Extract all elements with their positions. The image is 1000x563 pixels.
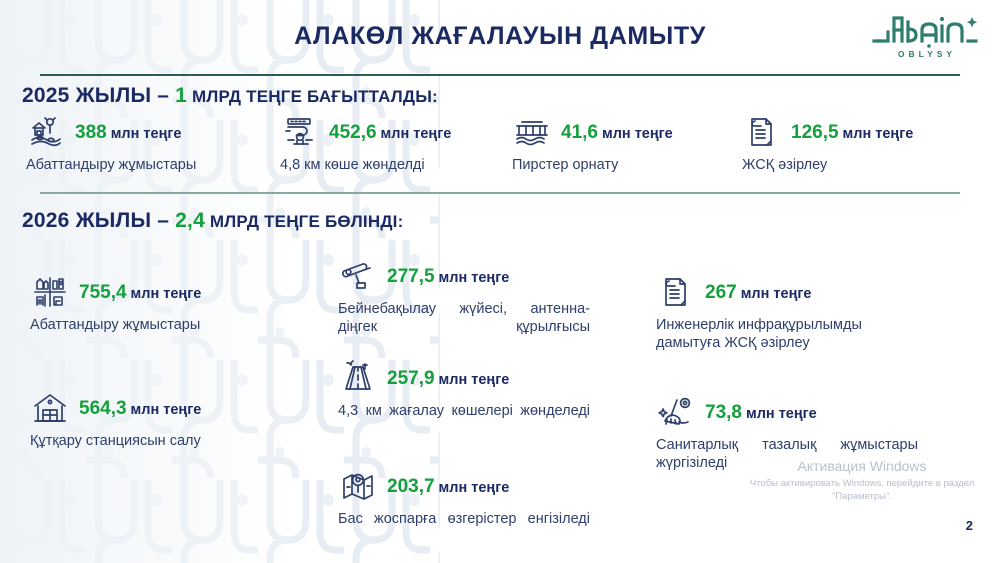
stat-unit: млн теңге <box>111 127 182 142</box>
stat-value-row: 203,7 млн теңге <box>387 477 509 496</box>
stat-amount: 452,6 <box>329 123 377 142</box>
stat-caption: Инженерлік инфрақұрылымды дамытуға ЖСҚ ә… <box>656 316 918 353</box>
stat-unit: млн теңге <box>439 271 510 286</box>
divider-top <box>40 74 960 76</box>
stat-value-row: 755,4 млн теңге <box>79 283 201 302</box>
section-heading-2025: 2025 ЖЫЛЫ – 1 МЛРД ТЕҢГЕ БАҒЫТТАЛДЫ: <box>22 84 438 108</box>
stat-amount: 755,4 <box>79 283 127 302</box>
stat-amount: 257,9 <box>387 369 435 388</box>
page-number: 2 <box>966 518 973 533</box>
stat-unit: млн теңге <box>381 127 452 142</box>
stat-item: 126,5 млн теңге ЖСҚ әзірлеу <box>742 112 967 174</box>
stat-item: 257,9 млн теңге 4,3 км жағалау көшелері … <box>338 358 590 439</box>
city-blocks-icon <box>30 272 70 312</box>
stat-caption: Абаттандыру жұмыстары <box>26 156 266 174</box>
stat-unit: млн теңге <box>131 403 202 418</box>
stat-caption: 4,3 км жағалау көшелері жөнделеді <box>338 402 590 439</box>
stat-item: 277,5 млн теңге Бейнебақылау жүйесі, ант… <box>338 256 590 355</box>
stat-value-row: 41,6 млн теңге <box>561 123 673 142</box>
cleaning-broom-icon <box>656 392 696 432</box>
page-title: АЛАКӨЛ ЖАҒАЛАУЫН ДАМЫТУ <box>0 22 1000 51</box>
stat-amount: 73,8 <box>705 403 742 422</box>
stat-headline: 277,5 млн теңге <box>338 256 590 296</box>
stat-unit: млн теңге <box>741 287 812 302</box>
stat-value-row: 564,3 млн теңге <box>79 399 201 418</box>
abai-oblysy-logo: OBLYSY <box>872 8 982 59</box>
stat-headline: 452,6 млн теңге <box>280 112 505 152</box>
stat-caption: 4,8 км көше жөнделді <box>280 156 505 174</box>
stat-headline: 267 млн теңге <box>656 272 918 312</box>
stat-value-row: 126,5 млн теңге <box>791 123 913 142</box>
slide-header: АЛАКӨЛ ЖАҒАЛАУЫН ДАМЫТУ <box>0 0 1000 72</box>
stat-unit: млн теңге <box>439 481 510 496</box>
stat-unit: млн теңге <box>131 287 202 302</box>
heading-accent-2025: 1 <box>175 84 187 107</box>
road-perspective-icon <box>338 358 378 398</box>
stat-value-row: 73,8 млн теңге <box>705 403 817 422</box>
stat-value-row: 277,5 млн теңге <box>387 267 509 286</box>
stat-value-row: 452,6 млн теңге <box>329 123 451 142</box>
stat-item: 388 млн теңге Абаттандыру жұмыстары <box>26 112 266 174</box>
stat-item: 73,8 млн теңге Санитарлық тазалық жұмыст… <box>656 392 918 491</box>
slide-root: АЛАКӨЛ ЖАҒАЛАУЫН ДАМЫТУ <box>0 0 1000 563</box>
document-icon <box>742 112 782 152</box>
document-icon <box>656 272 696 312</box>
abai-wordmark-icon <box>872 8 982 48</box>
stat-item: 203,7 млн теңге Бас жоспарға өзгерістер … <box>338 466 590 547</box>
stat-value-row: 267 млн теңге <box>705 283 811 302</box>
stat-item: 564,3 млн теңге Құтқару станциясын салу <box>30 388 290 450</box>
stat-unit: млн теңге <box>602 127 673 142</box>
stat-headline: 73,8 млн теңге <box>656 392 918 432</box>
stat-item: 452,6 млн теңге 4,8 км көше жөнделді <box>280 112 505 174</box>
stat-headline: 41,6 млн теңге <box>512 112 727 152</box>
stat-caption: Бас жоспарға өзгерістер енгізіледі <box>338 510 590 547</box>
heading-tail-2026: МЛРД ТЕҢГЕ БӨЛІНДІ: <box>205 212 403 231</box>
stat-headline: 564,3 млн теңге <box>30 388 290 428</box>
stat-item: 41,6 млн теңге Пирстер орнату <box>512 112 727 174</box>
stat-headline: 203,7 млн теңге <box>338 466 590 506</box>
road-works-icon <box>280 112 320 152</box>
stat-caption: ЖСҚ әзірлеу <box>742 156 967 174</box>
map-pin-icon <box>338 466 378 506</box>
stat-value-row: 257,9 млн теңге <box>387 369 509 388</box>
cctv-camera-icon <box>338 256 378 296</box>
stat-caption: Бейнебақылау жүйесі, антенна-діңгек құры… <box>338 300 590 355</box>
stat-headline: 755,4 млн теңге <box>30 272 290 312</box>
stat-item: 755,4 млн теңге Абаттандыру жұмыстары <box>30 272 290 334</box>
stat-amount: 277,5 <box>387 267 435 286</box>
stat-amount: 126,5 <box>791 123 839 142</box>
stat-caption: Санитарлық тазалық жұмыстары жүргізіледі <box>656 436 918 491</box>
divider-middle <box>40 192 960 194</box>
stat-value-row: 388 млн теңге <box>75 123 181 142</box>
stat-item: 267 млн теңге Инженерлік инфрақұрылымды … <box>656 272 918 353</box>
stat-amount: 203,7 <box>387 477 435 496</box>
section-heading-2026: 2026 ЖЫЛЫ – 2,4 МЛРД ТЕҢГЕ БӨЛІНДІ: <box>22 209 403 233</box>
heading-tail-2025: МЛРД ТЕҢГЕ БАҒЫТТАЛДЫ: <box>187 87 438 106</box>
heading-mid-2026: ЖЫЛЫ – <box>70 209 176 232</box>
stat-amount: 41,6 <box>561 123 598 142</box>
logo-subtitle: OBLYSY <box>872 49 982 59</box>
stat-amount: 564,3 <box>79 399 127 418</box>
stat-unit: млн теңге <box>439 373 510 388</box>
park-landscaping-icon <box>26 112 66 152</box>
heading-accent-2026: 2,4 <box>175 209 205 232</box>
stat-caption: Құтқару станциясын салу <box>30 432 290 450</box>
stat-unit: млн теңге <box>746 407 817 422</box>
heading-year-2026: 2026 <box>22 209 70 232</box>
heading-year-2025: 2025 <box>22 84 70 107</box>
stat-headline: 126,5 млн теңге <box>742 112 967 152</box>
stat-caption: Абаттандыру жұмыстары <box>30 316 290 334</box>
stat-amount: 388 <box>75 123 107 142</box>
rescue-station-icon <box>30 388 70 428</box>
stat-headline: 257,9 млн теңге <box>338 358 590 398</box>
heading-mid-2025: ЖЫЛЫ – <box>70 84 176 107</box>
stat-headline: 388 млн теңге <box>26 112 266 152</box>
stat-caption: Пирстер орнату <box>512 156 727 174</box>
pier-icon <box>512 112 552 152</box>
stat-unit: млн теңге <box>843 127 914 142</box>
stat-amount: 267 <box>705 283 737 302</box>
